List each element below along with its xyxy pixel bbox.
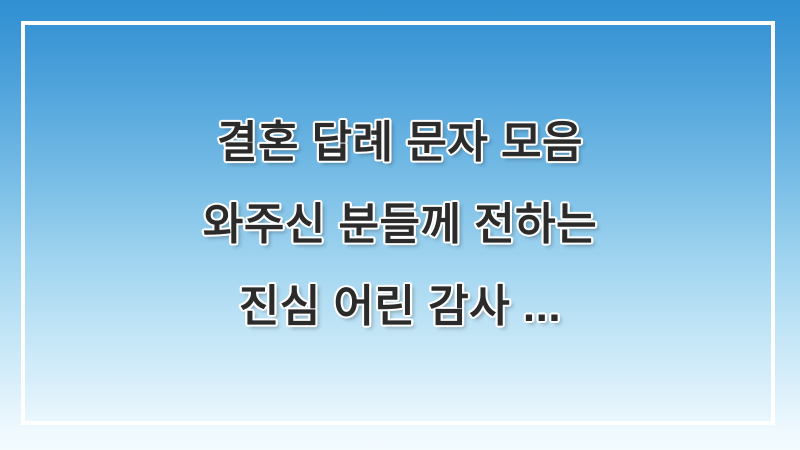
title-line-3: 진심 어린 감사 ... (239, 266, 561, 348)
title-block: 결혼 답례 문자 모음 와주신 분들께 전하는 진심 어린 감사 ... (0, 0, 800, 450)
title-line-2: 와주신 분들께 전하는 (203, 184, 597, 266)
thumbnail-card: 결혼 답례 문자 모음 와주신 분들께 전하는 진심 어린 감사 ... (0, 0, 800, 450)
title-line-1: 결혼 답례 문자 모음 (217, 102, 583, 184)
